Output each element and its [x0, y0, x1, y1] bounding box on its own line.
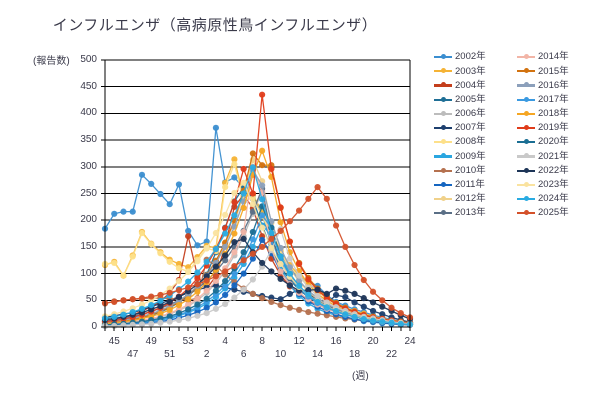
legend-marker-icon [434, 180, 452, 190]
legend-label: 2003年 [455, 67, 486, 77]
legend-label: 2013年 [455, 208, 486, 218]
x-tick-label: 18 [340, 349, 370, 360]
legend-marker-icon [517, 137, 535, 147]
legend-item-2005年[interactable]: 2005年 [434, 93, 517, 107]
y-tick-label: 200 [67, 214, 97, 225]
legend-marker-icon [434, 95, 452, 105]
legend-label: 2020年 [538, 137, 569, 147]
x-tick-label: 14 [303, 349, 333, 360]
legend-item-2007年[interactable]: 2007年 [434, 121, 517, 135]
legend-item-2016年[interactable]: 2016年 [517, 78, 600, 92]
x-tick-label: 20 [358, 336, 388, 347]
y-tick-label: 350 [67, 134, 97, 145]
legend-marker-icon [434, 194, 452, 204]
legend-marker-icon [434, 137, 452, 147]
y-tick-label: 100 [67, 268, 97, 279]
x-tick-label: 12 [284, 336, 314, 347]
y-tick-label: 150 [67, 241, 97, 252]
legend-item-2019年[interactable]: 2019年 [517, 121, 600, 135]
legend-label: 2011年 [455, 180, 485, 190]
legend-item-2020年[interactable]: 2020年 [517, 135, 600, 149]
x-tick-label: 45 [99, 336, 129, 347]
legend-item-2011年[interactable]: 2011年 [434, 178, 517, 192]
x-tick-label: 49 [136, 336, 166, 347]
legend-label: 2010年 [455, 166, 486, 176]
legend-marker-icon [434, 151, 452, 161]
legend-item-2013年[interactable]: 2013年 [434, 206, 517, 220]
x-tick-label: 24 [395, 336, 425, 347]
legend-label: 2022年 [538, 166, 569, 176]
legend-label: 2018年 [538, 109, 569, 119]
legend-item-2024年[interactable]: 2024年 [517, 192, 600, 206]
chart-container: インフルエンザ（高病原性鳥インフルエンザ） (報告数) (週) 05010015… [0, 0, 600, 400]
legend-marker-icon [434, 123, 452, 133]
legend-label: 2008年 [455, 137, 486, 147]
x-tick-label: 4 [210, 336, 240, 347]
y-tick-label: 50 [67, 294, 97, 305]
legend-item-2022年[interactable]: 2022年 [517, 164, 600, 178]
legend-item-2003年[interactable]: 2003年 [434, 64, 517, 78]
legend-item-2010年[interactable]: 2010年 [434, 164, 517, 178]
legend-marker-icon [517, 166, 535, 176]
legend-marker-icon [517, 80, 535, 90]
x-tick-label: 53 [173, 336, 203, 347]
y-tick-label: 450 [67, 81, 97, 92]
y-tick-label: 0 [67, 321, 97, 332]
legend-marker-icon [517, 194, 535, 204]
legend-label: 2004年 [455, 81, 486, 91]
legend-marker-icon [517, 66, 535, 76]
legend-label: 2012年 [455, 194, 486, 204]
legend-label: 2007年 [455, 123, 486, 133]
gridlines [105, 60, 410, 327]
legend-item-2004年[interactable]: 2004年 [434, 78, 517, 92]
legend-item-2012年[interactable]: 2012年 [434, 192, 517, 206]
legend-item-2021年[interactable]: 2021年 [517, 149, 600, 163]
legend-marker-icon [517, 208, 535, 218]
legend-label: 2016年 [538, 81, 569, 91]
legend-marker-icon [517, 123, 535, 133]
series-2019年 [102, 92, 413, 327]
legend-item-2025年[interactable]: 2025年 [517, 206, 600, 220]
x-tick-label: 2 [192, 349, 222, 360]
legend-label: 2014年 [538, 52, 569, 62]
y-tick-label: 250 [67, 188, 97, 199]
legend-marker-icon [517, 109, 535, 119]
legend-marker-icon [434, 166, 452, 176]
legend-item-2006年[interactable]: 2006年 [434, 107, 517, 121]
legend-label: 2006年 [455, 109, 486, 119]
legend-marker-icon [434, 66, 452, 76]
x-tick-label: 51 [155, 349, 185, 360]
legend-marker-icon [434, 80, 452, 90]
legend-label: 2024年 [538, 194, 569, 204]
x-tick-label: 6 [229, 349, 259, 360]
legend-label: 2023年 [538, 180, 569, 190]
legend-label: 2025年 [538, 208, 569, 218]
x-tick-label: 10 [266, 349, 296, 360]
y-tick-label: 500 [67, 54, 97, 65]
legend-marker-icon [434, 208, 452, 218]
legend-marker-icon [517, 52, 535, 62]
legend-label: 2005年 [455, 95, 486, 105]
legend-item-2002年[interactable]: 2002年 [434, 50, 517, 64]
legend-item-2008年[interactable]: 2008年 [434, 135, 517, 149]
legend-label: 2017年 [538, 95, 569, 105]
legend-marker-icon [517, 151, 535, 161]
series-layer [102, 92, 413, 329]
x-tick-label: 8 [247, 336, 277, 347]
chart-legend: 2002年2014年2003年2015年2004年2016年2005年2017年… [434, 50, 600, 220]
legend-marker-icon [434, 109, 452, 119]
legend-item-2018年[interactable]: 2018年 [517, 107, 600, 121]
x-tick-label: 16 [321, 336, 351, 347]
legend-item-2015年[interactable]: 2015年 [517, 64, 600, 78]
legend-marker-icon [517, 180, 535, 190]
legend-label: 2015年 [538, 67, 569, 77]
y-tick-label: 300 [67, 161, 97, 172]
legend-item-2023年[interactable]: 2023年 [517, 178, 600, 192]
legend-label: 2002年 [455, 52, 486, 62]
legend-label: 2009年 [455, 152, 486, 162]
legend-label: 2019年 [538, 123, 569, 133]
legend-label: 2021年 [538, 152, 569, 162]
y-tick-label: 400 [67, 107, 97, 118]
legend-item-2014年[interactable]: 2014年 [517, 50, 600, 64]
x-tick-label: 22 [377, 349, 407, 360]
x-tick-label: 47 [118, 349, 148, 360]
legend-marker-icon [517, 95, 535, 105]
legend-item-2017年[interactable]: 2017年 [517, 93, 600, 107]
legend-marker-icon [434, 52, 452, 62]
legend-item-2009年[interactable]: 2009年 [434, 149, 517, 163]
